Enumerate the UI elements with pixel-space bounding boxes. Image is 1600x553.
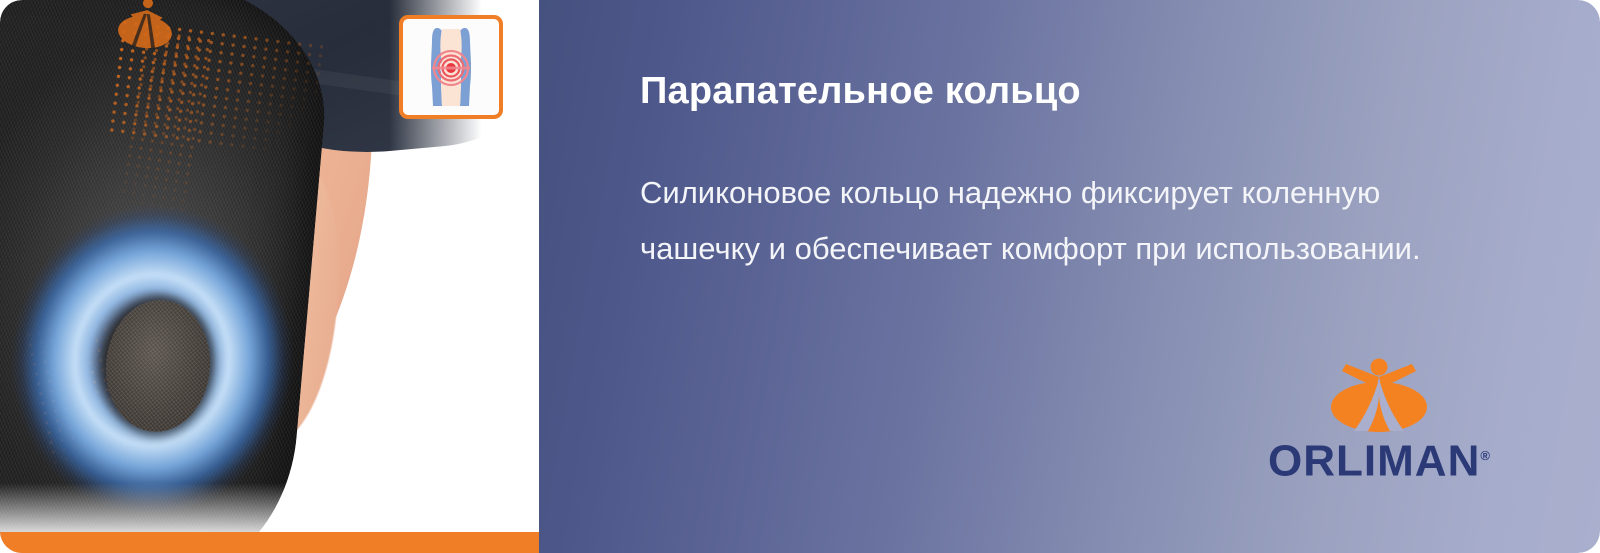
feature-description: Силиконовое кольцо надежно фиксирует кол… xyxy=(640,165,1470,277)
orliman-logo: ORLIMAN® xyxy=(1264,355,1494,480)
orliman-wordmark: ORLIMAN® xyxy=(1264,433,1494,485)
description-panel: Парапательное кольцо Силиконовое кольцо … xyxy=(539,0,1600,553)
feature-title: Парапательное кольцо xyxy=(640,70,1081,113)
woven-orliman-mark-icon xyxy=(109,0,182,53)
bottom-accent-bar xyxy=(0,532,539,553)
orliman-mark-icon xyxy=(1324,355,1434,433)
knee-joint-illustration-icon xyxy=(420,26,482,108)
registered-trademark-icon: ® xyxy=(1480,448,1490,463)
knee-joint-icon xyxy=(399,15,503,119)
product-feature-card: Парапательное кольцо Силиконовое кольцо … xyxy=(0,0,1600,553)
orliman-wordmark-text: ORLIMAN xyxy=(1268,437,1480,486)
